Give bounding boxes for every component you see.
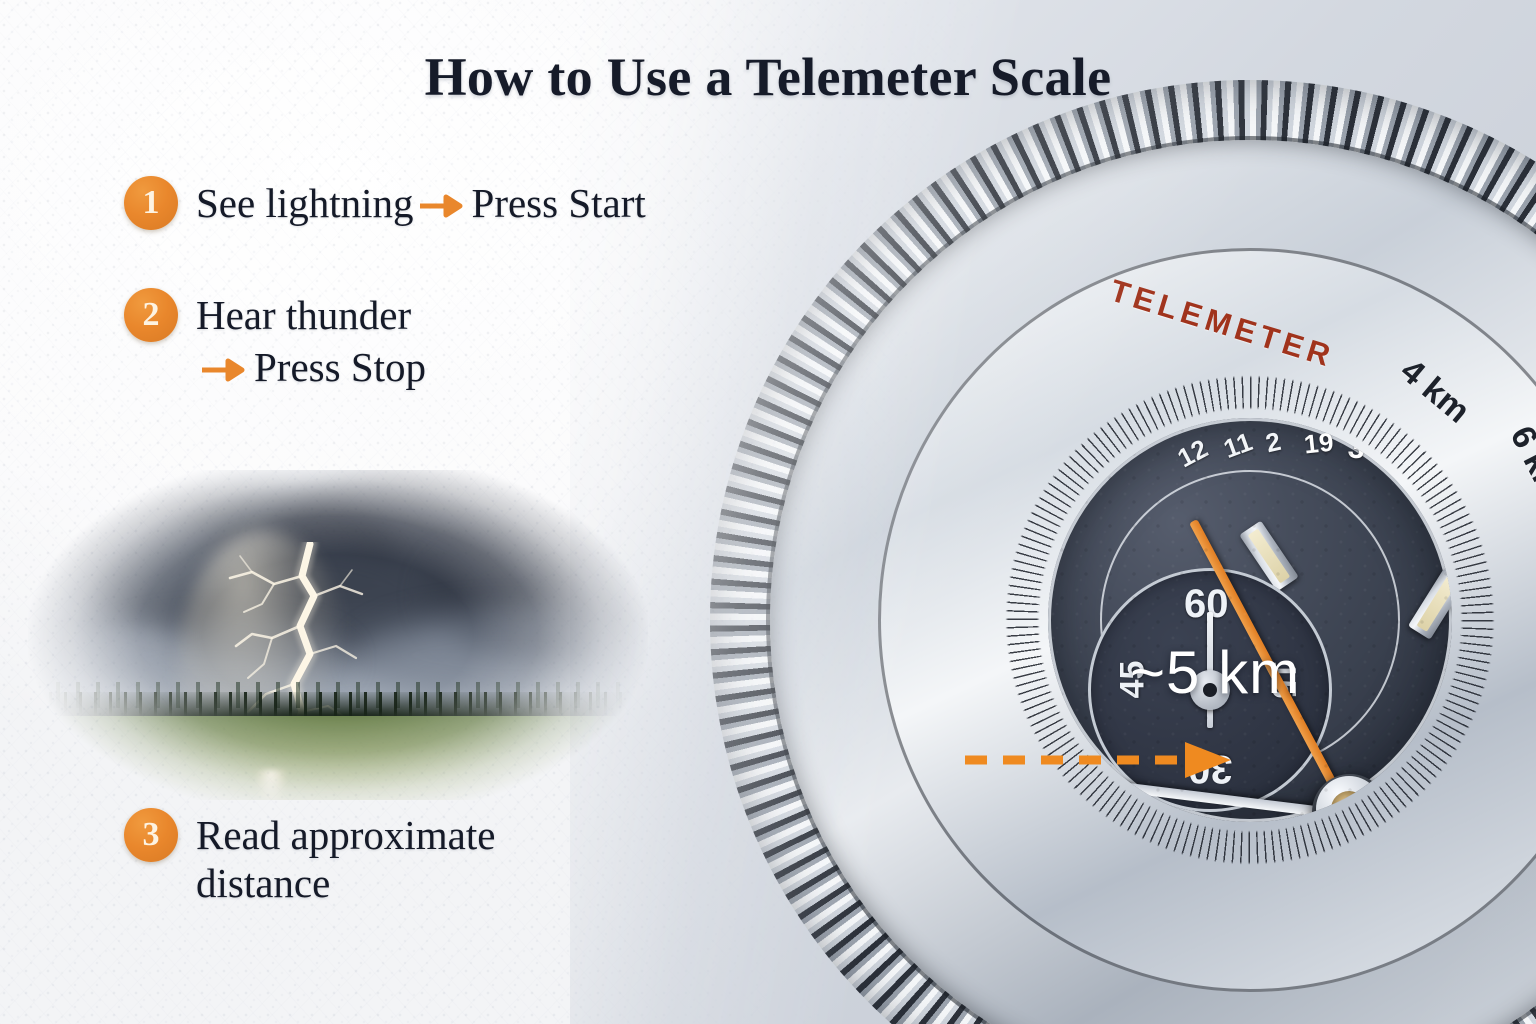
telemeter-num-11: 11 (1220, 426, 1257, 465)
step-2-pre-label: Hear thunder (196, 291, 426, 339)
step-3-badge: 3 (124, 808, 178, 862)
hour-marker-a (1239, 521, 1299, 592)
step-1-text: See lightningPress Start (196, 176, 646, 227)
grass-field (28, 716, 648, 800)
dashed-arrow-icon (963, 736, 1241, 784)
hands-hub-base (1312, 774, 1388, 822)
hour-hand (1299, 814, 1354, 822)
step-2-text: Hear thunder Press Stop (196, 288, 426, 392)
step-1-pre-label: See lightning (196, 180, 414, 226)
infographic-canvas: TELEMETER 4 km 6 km 200 12 11 2 (0, 0, 1536, 1024)
page-title: How to Use a Telemeter Scale (0, 46, 1536, 108)
right-arrow-icon (420, 193, 466, 219)
telemeter-num-3: 3 (1346, 431, 1367, 467)
telemeter-num-2: 2 (1263, 426, 1285, 460)
distance-annotation-label: ~5 km (1130, 638, 1300, 707)
telemeter-num-4: 4 (1392, 442, 1418, 479)
lightning-storm-photo (28, 470, 648, 800)
telemeter-num-12: 12 (1172, 433, 1213, 474)
center-hub-hole (1340, 800, 1358, 818)
right-arrow-icon (202, 357, 248, 383)
subdial-top-num-60: 60 (1184, 582, 1229, 627)
minute-track-ring (1100, 470, 1400, 770)
lightning-strike-point (256, 770, 286, 800)
watch-bezel-inner: TELEMETER 4 km 6 km 200 12 11 2 (770, 140, 1536, 1024)
step-2: 2 Hear thunder Press Stop (124, 288, 426, 392)
step-2-badge: 2 (124, 288, 178, 342)
center-hub-ring (1331, 791, 1367, 822)
step-3: 3 Read approximate distance (124, 808, 495, 908)
telemeter-num-5: 5 (1433, 464, 1452, 502)
telemeter-num-19: 19 (1302, 427, 1335, 461)
step-1-badge: 1 (124, 176, 178, 230)
hour-marker-b (1408, 568, 1452, 639)
step-1: 1 See lightningPress Start (124, 176, 646, 230)
step-1-post-label: Press Start (472, 180, 646, 226)
step-3-post-label: distance (196, 859, 495, 907)
watch-photo: TELEMETER 4 km 6 km 200 12 11 2 (570, 0, 1536, 1024)
step-2-post-label: Press Stop (254, 344, 426, 390)
step-3-text: Read approximate distance (196, 808, 495, 908)
step-3-pre-label: Read approximate (196, 811, 495, 859)
minute-track-ticks (1092, 462, 1408, 778)
watch-chapter-ring: TELEMETER 4 km 6 km 200 12 11 2 (878, 248, 1536, 992)
hands-center-hub (1316, 776, 1382, 822)
